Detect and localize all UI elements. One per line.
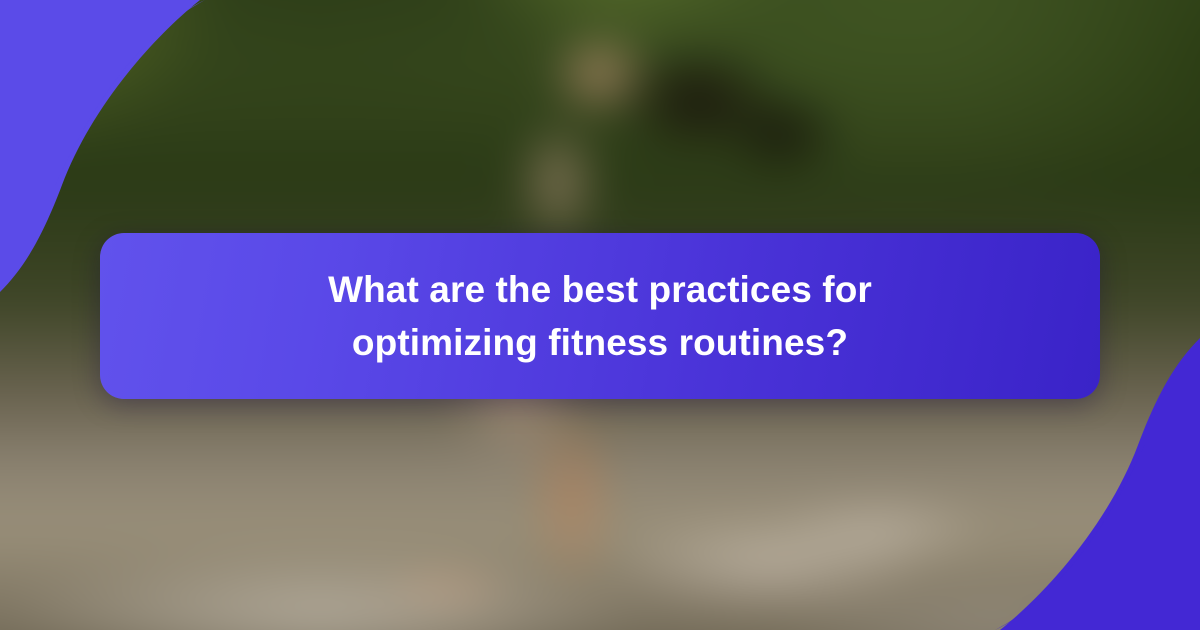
social-card-canvas: What are the best practices for optimizi… [0, 0, 1200, 630]
question-card: What are the best practices for optimizi… [100, 233, 1100, 399]
question-text: What are the best practices for optimizi… [328, 263, 872, 370]
